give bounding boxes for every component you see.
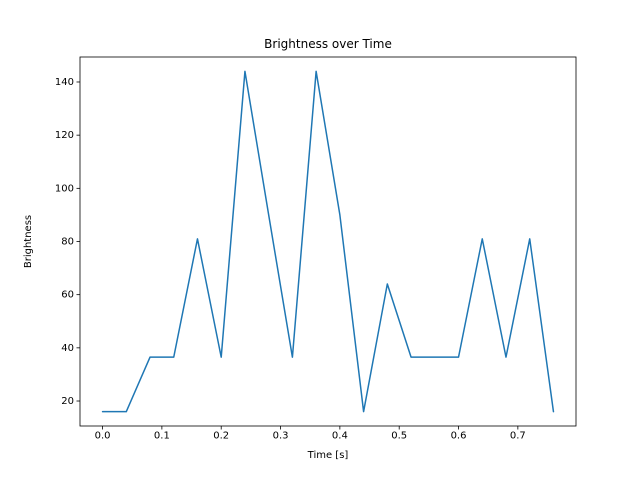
y-tick-label: 140 [55,77,74,88]
x-tick-label: 0.2 [213,430,229,441]
brightness-line-chart: 0.00.10.20.30.40.50.60.72040608010012014… [0,0,640,480]
chart-title: Brightness over Time [264,37,392,51]
y-tick-label: 40 [61,343,74,354]
x-tick-label: 0.5 [391,430,407,441]
x-tick-label: 0.0 [95,430,111,441]
x-axis-label: Time [s] [307,450,349,461]
data-series-brightness [103,71,554,411]
axes-spine [80,57,576,426]
y-axis-label: Brightness [23,215,34,268]
y-tick-label: 120 [55,130,74,141]
x-tick-label: 0.6 [451,430,467,441]
figure-canvas: 0.00.10.20.30.40.50.60.72040608010012014… [0,0,640,480]
y-tick-label: 80 [61,237,74,248]
x-tick-label: 0.7 [510,430,526,441]
y-tick-label: 100 [55,183,74,194]
x-tick-label: 0.1 [154,430,170,441]
x-tick-label: 0.4 [332,430,348,441]
y-tick-label: 60 [61,290,74,301]
y-tick-label: 20 [61,396,74,407]
x-tick-label: 0.3 [273,430,289,441]
